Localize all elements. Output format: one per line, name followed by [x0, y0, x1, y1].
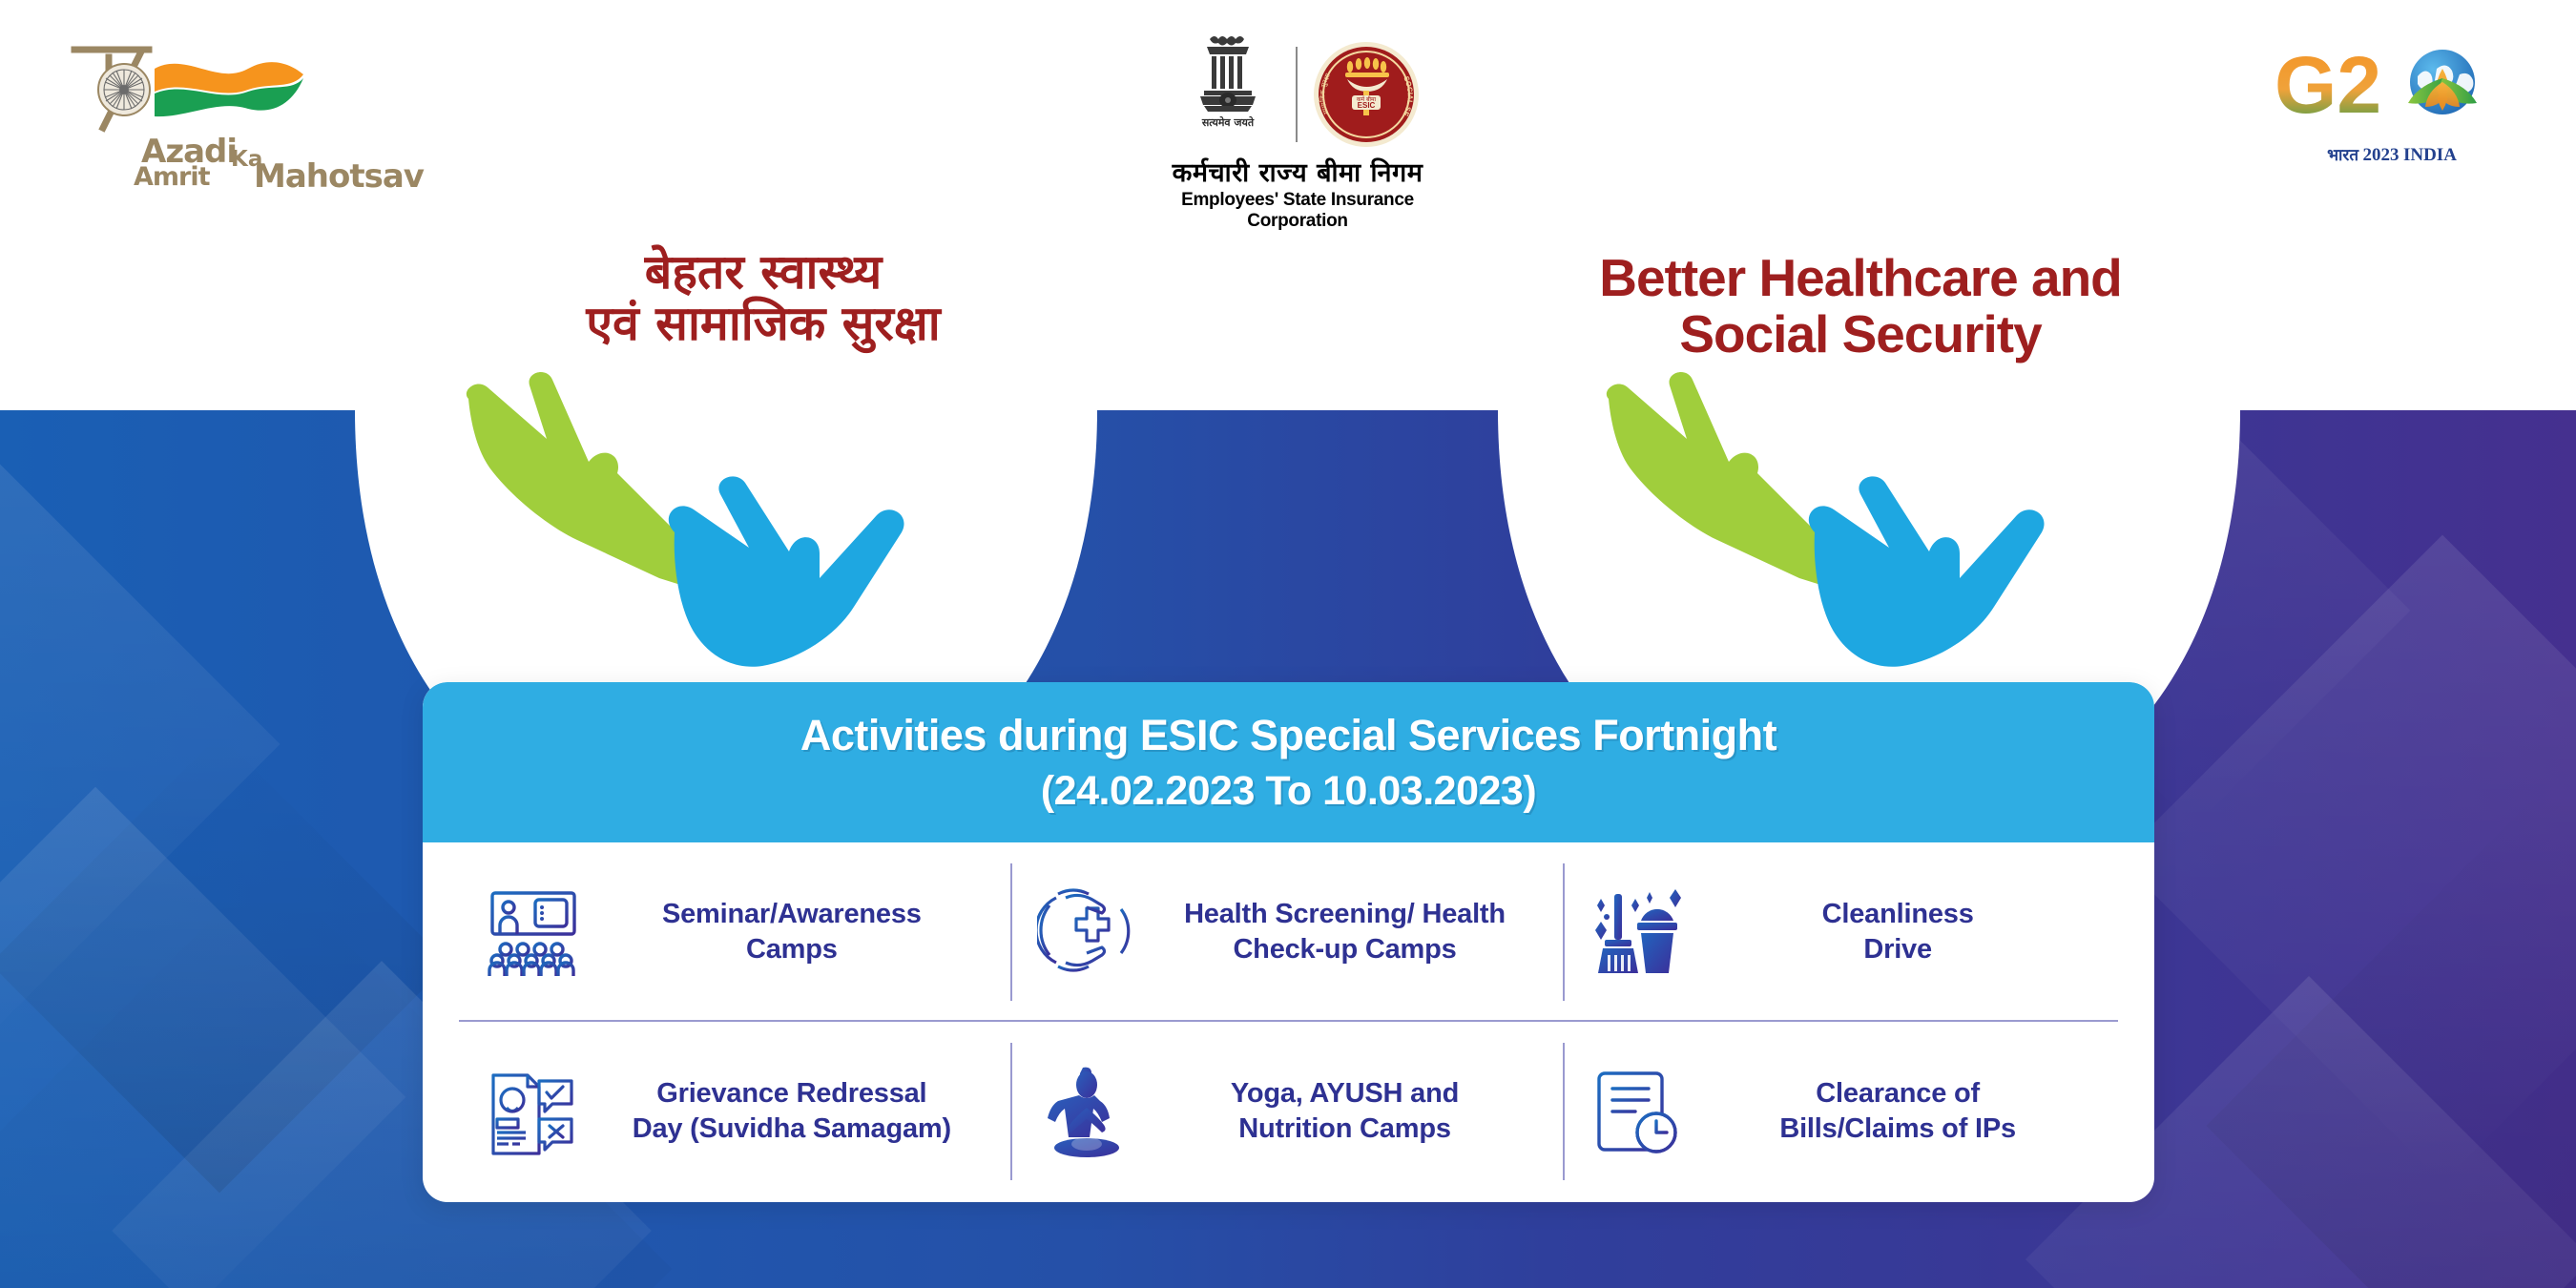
svg-text:G2: G2 [2275, 40, 2381, 130]
esic-name-english: Employees' State Insurance Corporation [1140, 190, 1455, 232]
cupped-hands-icon-left [434, 363, 1026, 687]
g20-bharat-text: भारत [2327, 146, 2358, 165]
activity-label: Cleanliness Drive [1696, 897, 2118, 967]
g20-country-text: INDIA [2403, 145, 2457, 165]
seminar-presentation-icon [476, 880, 591, 985]
svg-text:ESIC: ESIC [1358, 101, 1376, 110]
health-screening-hands-icon [1029, 880, 1144, 985]
amrit-line2: Amrit [134, 164, 210, 190]
amrit-mahotsav: Mahotsav [254, 160, 424, 193]
activity-cell-seminar[interactable]: Seminar/Awareness Camps [459, 842, 1012, 1022]
tagline-hindi-line2: एवं सामाजिक सुरक्षा [515, 298, 1011, 349]
logo-divider [1296, 47, 1298, 142]
activity-cell-bills[interactable]: Clearance of Bills/Claims of IPs [1565, 1022, 2118, 1201]
poster-root: Azadi Ka Amrit Mahotsav [0, 0, 2576, 1288]
activity-cell-yoga[interactable]: Yoga, AYUSH and Nutrition Camps [1012, 1022, 1566, 1201]
activity-cell-health-screening[interactable]: Health Screening/ Health Check-up Camps [1012, 842, 1566, 1022]
activity-label: Yoga, AYUSH and Nutrition Camps [1144, 1076, 1566, 1147]
tagline-hindi-line1: बेहतर स्वास्थ्य [515, 246, 1011, 298]
ashoka-emblem-icon: सत्यमेव जयते [1175, 31, 1280, 148]
grievance-document-icon [476, 1059, 591, 1164]
activity-label: Health Screening/ Health Check-up Camps [1144, 897, 1566, 967]
activities-date-range: (24.02.2023 To 10.03.2023) [1041, 768, 1536, 815]
activity-label: Seminar/Awareness Camps [591, 897, 1012, 967]
activity-cell-cleanliness[interactable]: Cleanliness Drive [1565, 842, 2118, 1022]
activity-cell-grievance[interactable]: Grievance Redressal Day (Suvidha Samagam… [459, 1022, 1012, 1201]
bill-clearance-clock-icon [1582, 1059, 1696, 1164]
activities-card: Activities during ESIC Special Services … [423, 682, 2154, 1202]
tagline-english-line2: Social Security [1584, 306, 2137, 363]
poster-header: Azadi Ka Amrit Mahotsav [0, 0, 2576, 239]
g20-india-2023-logo: G2 भारत 2023 INDIA [2273, 36, 2511, 179]
cleanliness-broom-bucket-icon [1582, 880, 1696, 985]
g20-year-text: 2023 [2363, 145, 2399, 165]
activities-grid: Seminar/Awareness Camps [423, 842, 2154, 1201]
activities-card-header: Activities during ESIC Special Services … [423, 682, 2154, 842]
activity-label: Clearance of Bills/Claims of IPs [1696, 1076, 2118, 1147]
tagline-hindi: बेहतर स्वास्थ्य एवं सामाजिक सुरक्षा [515, 246, 1011, 349]
esic-seal-icon: कर्म बीमा ESIC सामाजिक सुरक्षा SOCIAL SE… [1313, 41, 1420, 148]
tagline-english-line1: Better Healthcare and [1584, 250, 2137, 306]
esic-name-hindi: कर्मचारी राज्य बीमा निगम [1140, 154, 1455, 189]
cupped-hands-icon-right [1574, 363, 2166, 687]
g20-wordmark-icon: G2 [2273, 36, 2511, 143]
yoga-meditation-icon [1029, 1059, 1144, 1164]
activities-title: Activities during ESIC Special Services … [800, 711, 1776, 760]
azadi-ka-amrit-mahotsav-logo: Azadi Ka Amrit Mahotsav [67, 36, 315, 179]
activity-label: Grievance Redressal Day (Suvidha Samagam… [591, 1076, 1012, 1147]
esic-logo-block: सत्यमेव जयते कर्म बीमा [1140, 29, 1455, 232]
amrit-flag-icon [67, 36, 315, 141]
satyameva-jayate-text: सत्यमेव जयते [1175, 115, 1280, 130]
tagline-english: Better Healthcare and Social Security [1584, 250, 2137, 364]
